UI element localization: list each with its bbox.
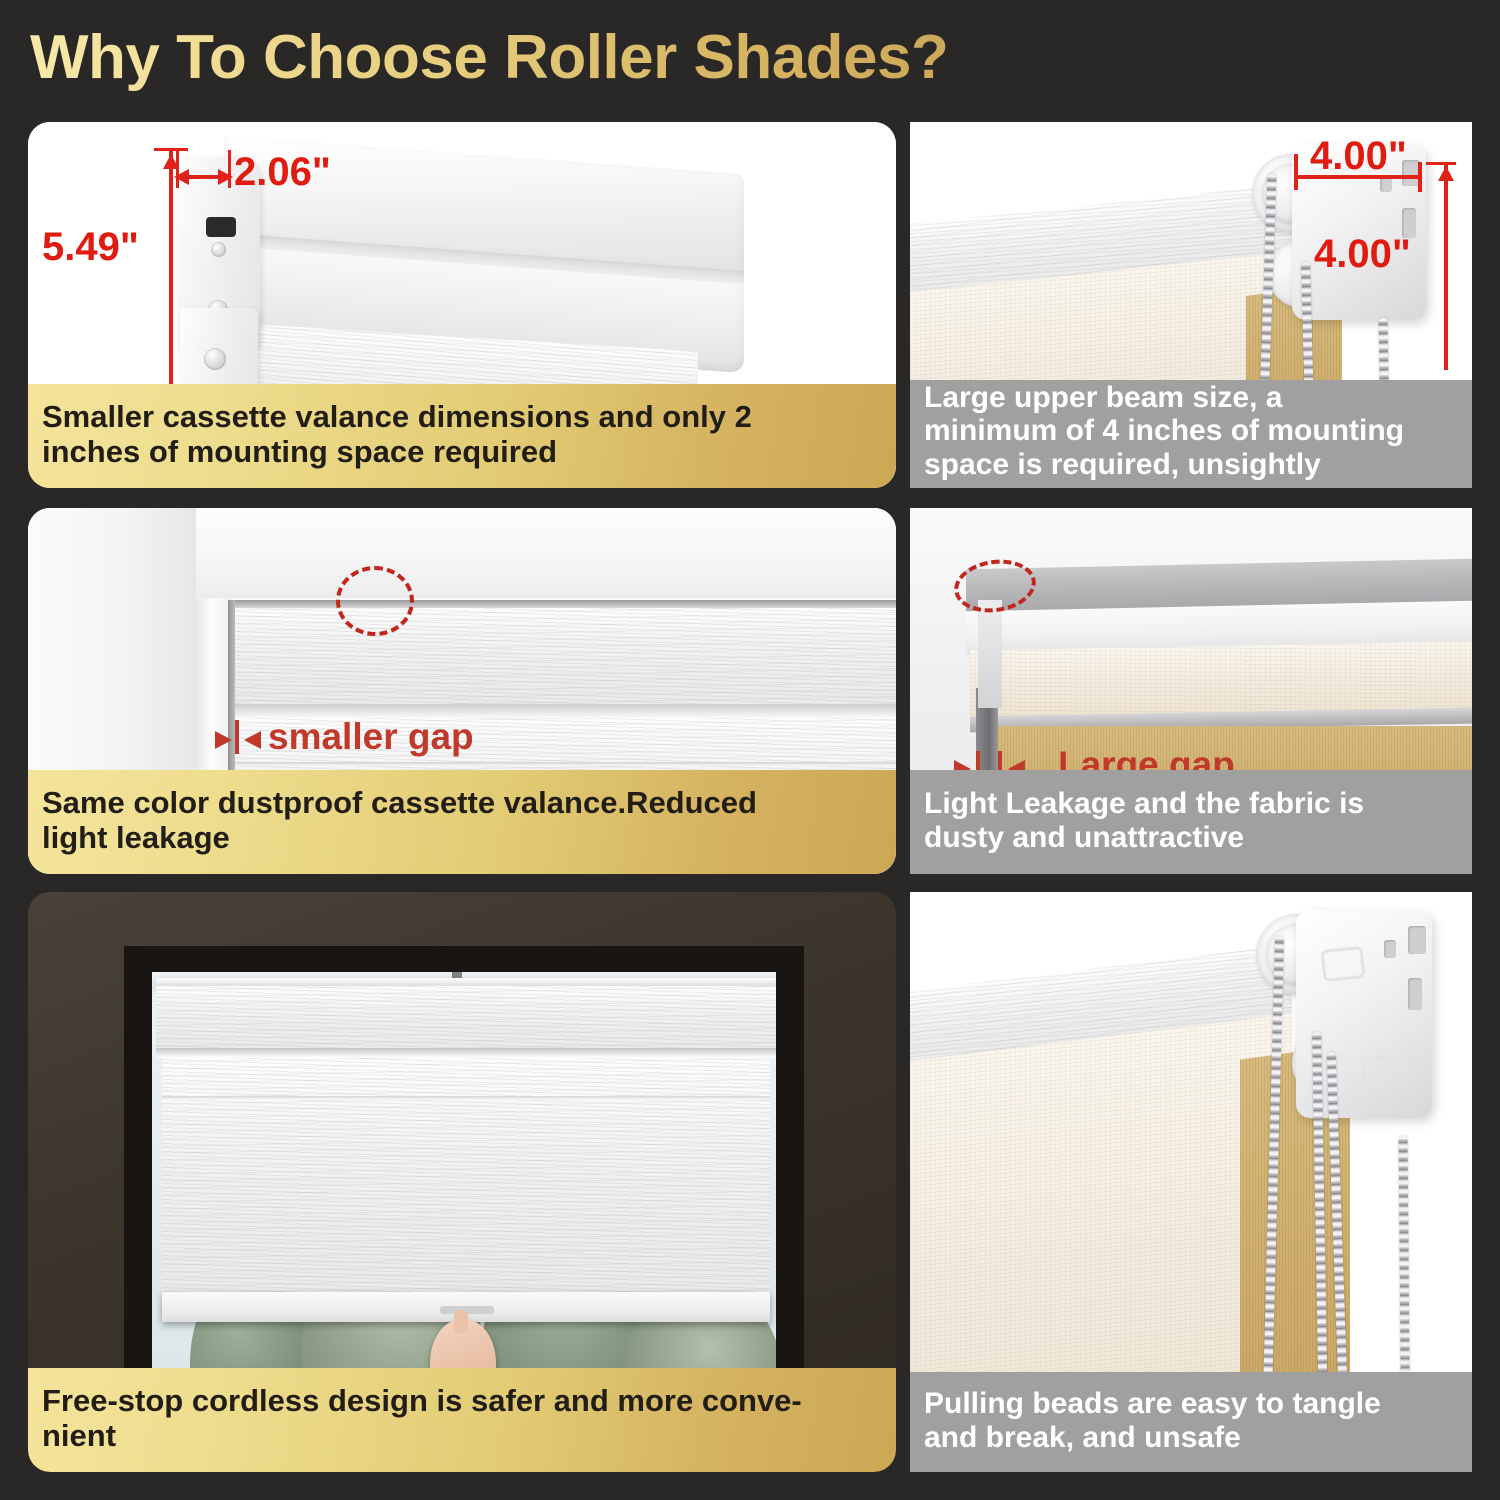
cream-fabric-band [970, 642, 1472, 719]
panel-cordless-design: Free-stop cordless design is safer and m… [28, 892, 896, 1472]
panel-large-gap: Large gap Light Leakage and the fabric i… [910, 508, 1472, 874]
cassette-face [156, 986, 776, 1050]
beam-height-arrow-up [1438, 166, 1454, 181]
beam-height-cap-top [1426, 162, 1456, 165]
cassette-valance-face [232, 608, 896, 704]
gap-arrow-left [215, 731, 232, 749]
bracket-piece [978, 600, 1002, 708]
panel-large-upper-beam: 4.00" 4.00" Large upper beam size, a min… [910, 122, 1472, 488]
panel-2-caption: Large upper beam size, a minimum of 4 in… [910, 380, 1472, 488]
caption-line: Pulling beads are easy to tangle [924, 1387, 1381, 1421]
width-dim-arrow-right [218, 169, 233, 185]
caption-line: minimum of 4 inches of mounting [924, 414, 1404, 448]
panel-4-caption: Light Leakage and the fabric is dusty an… [910, 770, 1472, 874]
bracket-notch-low [1384, 940, 1396, 958]
panel-6-caption: Pulling beads are easy to tangle and bre… [910, 1372, 1472, 1472]
bracket-notch-top [1408, 926, 1426, 954]
caption-line: and break, and unsafe [924, 1421, 1241, 1455]
smaller-gap-label: smaller gap [268, 716, 474, 758]
beam-height-line [1444, 164, 1448, 370]
caption-line: inches of mounting space required [42, 435, 557, 470]
caption-line: nient [42, 1419, 116, 1454]
caption-line: Free-stop cordless design is safer and m… [42, 1384, 802, 1419]
panel-1-caption: Smaller cassette valance dimensions and … [28, 384, 896, 488]
gap-tick [235, 720, 239, 754]
height-dim-cap-top [154, 148, 188, 151]
window-frame-top [196, 508, 896, 598]
panel-pulling-beads: Pulling beads are easy to tangle and bre… [910, 892, 1472, 1472]
beam-height-label: 4.00" [1314, 232, 1411, 277]
caption-line: Smaller cassette valance dimensions and … [42, 400, 752, 435]
caption-line: light leakage [42, 821, 230, 856]
panel-smaller-cassette: 2.06" 5.49" Smaller cassette valance dim… [28, 122, 896, 488]
beam-width-tick-left [1294, 154, 1298, 190]
height-dimension-label: 5.49" [42, 225, 139, 270]
end-cap-slot [206, 217, 236, 237]
fabric-crease [162, 1096, 770, 1100]
panel-5-caption: Free-stop cordless design is safer and m… [28, 1368, 896, 1472]
width-dimension-label: 2.06" [234, 150, 331, 195]
caption-line: Same color dustproof cassette valance.Re… [42, 786, 757, 821]
gap-arrow-right [244, 731, 261, 749]
bracket-notch-mid [1408, 978, 1422, 1010]
finger-tip [454, 1310, 468, 1334]
fabric-fold-line [232, 762, 896, 766]
height-dim-arrow-up [163, 154, 179, 169]
highlight-circle [336, 566, 414, 636]
cassette-seam [156, 1048, 776, 1058]
caption-line: dusty and unattractive [924, 821, 1244, 855]
beam-width-tick-right [1418, 162, 1422, 192]
width-dim-arrow-left [174, 169, 189, 185]
beam-width-label: 4.00" [1310, 134, 1407, 179]
end-cap-lower-screw [204, 348, 226, 370]
end-cap-screw-top [211, 242, 226, 257]
panel-smaller-gap: smaller gap Same color dustproof cassett… [28, 508, 896, 874]
comparison-grid: 2.06" 5.49" Smaller cassette valance dim… [0, 0, 1500, 1500]
bracket-emboss-top [1320, 946, 1365, 982]
caption-line: space is required, unsightly [924, 448, 1321, 482]
cassette-valance [156, 978, 776, 986]
bracket-emboss-bottom [1361, 1054, 1406, 1088]
panel-3-caption: Same color dustproof cassette valance.Re… [28, 770, 896, 874]
caption-line: Large upper beam size, a [924, 381, 1282, 415]
cassette-top-edge [232, 600, 896, 608]
roller-shade-fabric [162, 1058, 770, 1304]
caption-line: Light Leakage and the fabric is [924, 787, 1364, 821]
